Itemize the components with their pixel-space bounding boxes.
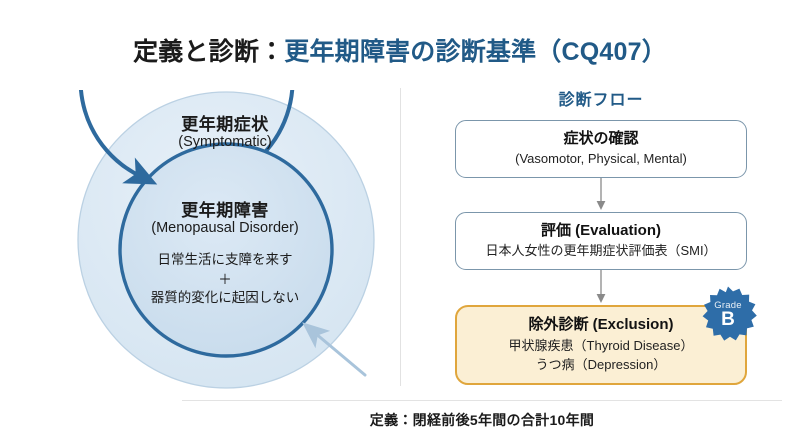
flow-step-evaluation[interactable]: 評価 (Evaluation) 日本人女性の更年期症状評価表（SMI） [455, 212, 747, 270]
flow-step-1-main: 症状の確認 [563, 129, 638, 149]
flow-heading: 診断フロー [455, 86, 747, 110]
inbound-arrow [315, 333, 365, 375]
flow-arrow-1 [592, 178, 610, 212]
inner-circle-label-en: (Menopausal Disorder) [80, 220, 370, 236]
panel-divider [400, 88, 401, 386]
page-title-dark: 定義と診断： [133, 38, 284, 66]
outer-circle-label-en: (Symptomatic) [80, 134, 370, 150]
footer-divider [182, 400, 782, 401]
flow-step-2-sub: 日本人女性の更年期症状評価表（SMI） [485, 241, 716, 261]
grade-badge-letter: B [697, 310, 759, 329]
page-title-blue: 更年期障害の診断基準（CQ407） [284, 38, 667, 66]
inner-circle-detail-2: 器質的変化に起因しない [80, 286, 370, 306]
flow-step-1-sub: (Vasomotor, Physical, Mental) [515, 149, 687, 169]
inner-circle-label-ja: 更年期障害 [80, 196, 370, 221]
flow-step-3-sub: 甲状腺疾患（Thyroid Disease） [509, 336, 694, 356]
slide-canvas: 定義と診断：更年期障害の診断基準（CQ407） [0, 0, 800, 439]
flow-step-2-main: 評価 (Evaluation) [541, 221, 661, 241]
flow-step-3-sub2: うつ病（Depression） [536, 355, 667, 375]
flow-step-3-main: 除外診断 (Exclusion) [528, 315, 673, 335]
inner-circle-detail-plus: ＋ [80, 268, 370, 288]
flow-step-symptom-check[interactable]: 症状の確認 (Vasomotor, Physical, Mental) [455, 120, 747, 178]
outer-circle-label-ja: 更年期症状 [80, 110, 370, 135]
inner-circle-detail-1: 日常生活に支障を来す [80, 248, 370, 268]
flow-arrow-2 [592, 270, 610, 305]
footer-note: 定義：閉経前後5年間の合計10年間 [182, 410, 782, 430]
grade-badge: Grade B [697, 285, 759, 347]
page-title: 定義と診断：更年期障害の診断基準（CQ407） [0, 32, 800, 68]
